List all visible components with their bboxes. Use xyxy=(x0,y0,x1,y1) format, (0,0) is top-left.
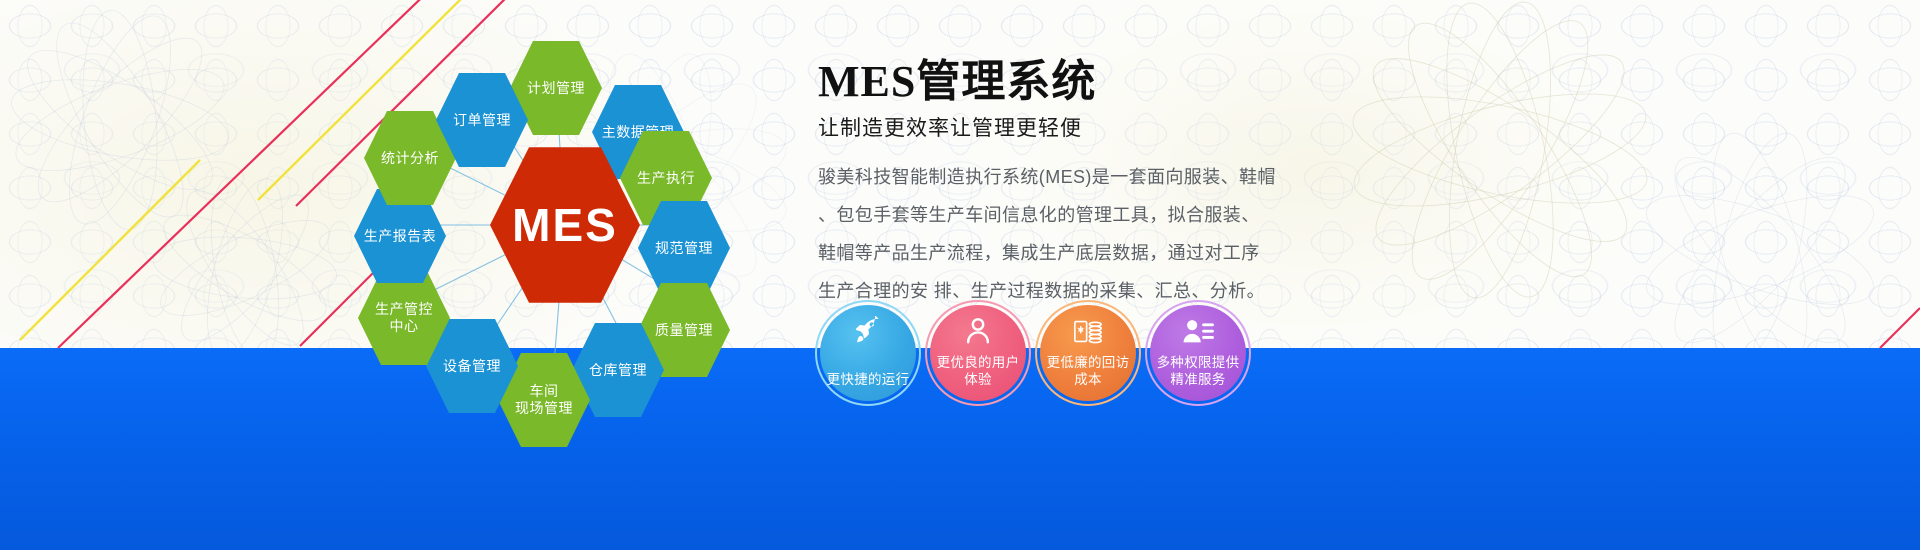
description-line-2: 、包包手套等生产车间信息化的管理工具，拟合服装、 xyxy=(818,202,1338,230)
hex-production-control-center-label: 生产管控 中心 xyxy=(363,301,445,334)
feature-badge-group: 更快捷的运行 更优良的用户 体验 xyxy=(820,305,1246,401)
badge-label: 更优良的用户 体验 xyxy=(937,355,1020,389)
user-icon xyxy=(961,316,995,346)
description-line-3: 鞋帽等产品生产流程，集成生产底层数据，通过对工序 xyxy=(818,240,1338,268)
hex-warehouse-management-label: 仓库管理 xyxy=(583,362,653,379)
page-title: MES管理系统 xyxy=(818,58,1338,106)
hex-equipment-management-label: 设备管理 xyxy=(437,358,507,375)
hex-order-management-label: 订单管理 xyxy=(447,112,517,129)
hex-plan-management-label: 计划管理 xyxy=(521,80,591,97)
description-paragraph: 骏美科技智能制造执行系统(MES)是一套面向服装、鞋帽 、包包手套等生产车间信息… xyxy=(818,164,1338,306)
hex-control-center-line2: 中心 xyxy=(369,318,439,335)
hex-standard-management-label: 规范管理 xyxy=(649,240,719,257)
badge-label-line1: 更优良的用户 xyxy=(937,355,1020,372)
hex-control-center-line1: 生产管控 xyxy=(369,301,439,318)
user-list-icon xyxy=(1181,316,1215,346)
hex-workshop-line2: 现场管理 xyxy=(509,400,579,417)
hex-production-report-label: 生产报告表 xyxy=(358,228,443,245)
badge-multi-permission-service[interactable]: 多种权限提供 精准服务 xyxy=(1150,305,1246,401)
hex-production-execution-label: 生产执行 xyxy=(631,170,701,187)
coins-icon xyxy=(1071,316,1105,346)
badge-label-line1: 更低廉的回访 xyxy=(1047,355,1130,372)
hex-statistical-analysis-label: 统计分析 xyxy=(375,150,445,167)
hex-workshop-line1: 车间 xyxy=(509,383,579,400)
page-subtitle: 让制造更效率让管理更轻便 xyxy=(818,112,1338,142)
badge-label: 多种权限提供 精准服务 xyxy=(1157,355,1240,389)
badge-label-line2: 成本 xyxy=(1047,372,1130,389)
hex-center-mes-label: MES xyxy=(506,198,624,252)
badge-faster-operation[interactable]: 更快捷的运行 xyxy=(820,305,916,401)
mes-module-honeycomb: 计划管理 主数据管理 生产执行 规范管理 质量管理 仓库管理 车间 现场管理 设… xyxy=(330,10,800,440)
badge-label-line2: 精准服务 xyxy=(1157,372,1240,389)
badge-label-line1: 多种权限提供 xyxy=(1157,355,1240,372)
badge-lower-followup-cost[interactable]: 更低廉的回访 成本 xyxy=(1040,305,1136,401)
badge-label: 更快捷的运行 xyxy=(827,372,910,389)
mes-promo-banner: 计划管理 主数据管理 生产执行 规范管理 质量管理 仓库管理 车间 现场管理 设… xyxy=(0,0,1920,550)
hex-quality-management-label: 质量管理 xyxy=(649,322,719,339)
description-line-1: 骏美科技智能制造执行系统(MES)是一套面向服装、鞋帽 xyxy=(818,164,1338,192)
badge-label-line1: 更快捷的运行 xyxy=(827,372,910,389)
badge-better-user-experience[interactable]: 更优良的用户 体验 xyxy=(930,305,1026,401)
badge-label: 更低廉的回访 成本 xyxy=(1047,355,1130,389)
hex-workshop-site-management-label: 车间 现场管理 xyxy=(503,383,585,416)
badge-label-line2: 体验 xyxy=(937,372,1020,389)
promo-copy-block: MES管理系统 让制造更效率让管理更轻便 骏美科技智能制造执行系统(MES)是一… xyxy=(818,58,1338,316)
rocket-icon xyxy=(851,316,885,346)
